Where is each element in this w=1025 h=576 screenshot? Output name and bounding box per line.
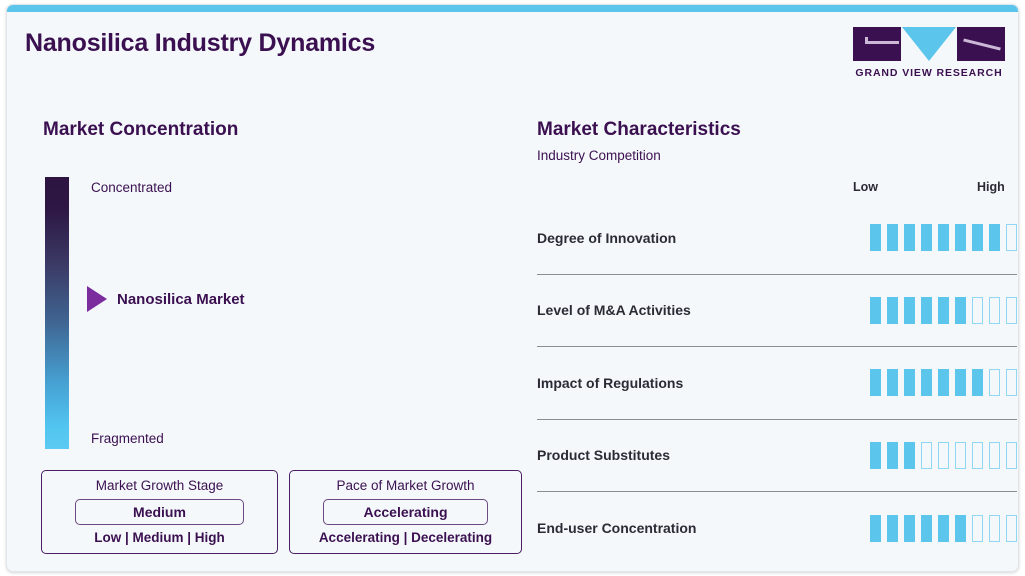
rating-segment [938, 297, 949, 324]
market-characteristics-title: Market Characteristics [537, 119, 741, 141]
market-growth-stage-value-chip: Medium [75, 499, 244, 525]
rating-segment [921, 297, 932, 324]
rating-segment [989, 224, 1000, 251]
characteristic-rating-bars [870, 515, 1017, 542]
rating-segment [887, 297, 898, 324]
rating-segment [1006, 515, 1017, 542]
rating-segment [870, 442, 881, 469]
rating-segment [887, 442, 898, 469]
market-growth-stage-scale: Low | Medium | High [54, 530, 265, 545]
rating-segment [972, 297, 983, 324]
rating-segment [870, 515, 881, 542]
rating-segment [955, 369, 966, 396]
rating-segment [955, 515, 966, 542]
rating-segment [989, 369, 1000, 396]
rating-segment [921, 224, 932, 251]
rating-segment [921, 369, 932, 396]
pace-of-market-growth-box: Pace of Market Growth Accelerating Accel… [289, 470, 522, 554]
pace-of-market-growth-value: Accelerating [324, 504, 488, 520]
market-position-marker: Nanosilica Market [87, 286, 245, 312]
rating-segment [887, 515, 898, 542]
characteristics-rows: Degree of InnovationLevel of M&A Activit… [537, 202, 1017, 565]
marker-arrow-icon [87, 286, 107, 312]
rating-segment [870, 297, 881, 324]
rating-segment [1006, 442, 1017, 469]
rating-segment [904, 224, 915, 251]
rating-segment [904, 442, 915, 469]
scale-header: Low High [537, 180, 1017, 196]
characteristic-row: End-user Concentration [537, 492, 1017, 565]
rating-segment [887, 224, 898, 251]
pace-of-market-growth-title: Pace of Market Growth [302, 478, 509, 493]
rating-segment [870, 369, 881, 396]
characteristic-label: Degree of Innovation [537, 230, 676, 246]
marker-label: Nanosilica Market [117, 291, 245, 308]
characteristic-label: Impact of Regulations [537, 375, 683, 391]
stat-box-group: Market Growth Stage Medium Low | Medium … [41, 470, 522, 554]
characteristic-row: Product Substitutes [537, 420, 1017, 493]
rating-segment [870, 224, 881, 251]
scale-header-high: High [977, 180, 1005, 194]
characteristic-rating-bars [870, 224, 1017, 251]
scale-label-fragmented: Fragmented [91, 431, 164, 446]
rating-segment [1006, 369, 1017, 396]
pace-of-market-growth-scale: Accelerating | Decelerating [302, 530, 509, 545]
scale-header-low: Low [853, 180, 878, 194]
rating-segment [989, 442, 1000, 469]
rating-segment [972, 515, 983, 542]
rating-segment [938, 442, 949, 469]
characteristic-rating-bars [870, 369, 1017, 396]
rating-segment [972, 224, 983, 251]
pace-of-market-growth-value-chip: Accelerating [323, 499, 489, 525]
market-growth-stage-value: Medium [76, 504, 243, 520]
rating-segment [955, 442, 966, 469]
rating-segment [989, 515, 1000, 542]
rating-segment [989, 297, 1000, 324]
rating-segment [972, 442, 983, 469]
characteristic-rating-bars [870, 297, 1017, 324]
market-growth-stage-title: Market Growth Stage [54, 478, 265, 493]
characteristic-label: Level of M&A Activities [537, 302, 691, 318]
rating-segment [921, 515, 932, 542]
rating-segment [887, 369, 898, 396]
rating-segment [955, 224, 966, 251]
rating-segment [938, 515, 949, 542]
rating-segment [1006, 224, 1017, 251]
characteristic-label: Product Substitutes [537, 447, 670, 463]
market-growth-stage-box: Market Growth Stage Medium Low | Medium … [41, 470, 278, 554]
market-concentration-panel: Market Concentration Concentrated Fragme… [7, 5, 519, 571]
rating-segment [955, 297, 966, 324]
market-concentration-title: Market Concentration [43, 119, 238, 141]
rating-segment [1006, 297, 1017, 324]
scale-label-concentrated: Concentrated [91, 180, 172, 195]
characteristic-label: End-user Concentration [537, 520, 696, 536]
market-characteristics-panel: Market Characteristics Industry Competit… [519, 5, 1019, 571]
concentration-gradient-bar [45, 177, 69, 449]
rating-segment [904, 515, 915, 542]
rating-segment [921, 442, 932, 469]
concentration-scale: Concentrated Fragmented Nanosilica Marke… [45, 177, 295, 449]
rating-segment [938, 224, 949, 251]
characteristic-row: Impact of Regulations [537, 347, 1017, 420]
infographic-card: Nanosilica Industry Dynamics GRAND VIEW … [6, 4, 1019, 572]
rating-segment [904, 297, 915, 324]
characteristic-rating-bars [870, 442, 1017, 469]
rating-segment [904, 369, 915, 396]
characteristic-row: Level of M&A Activities [537, 275, 1017, 348]
rating-segment [938, 369, 949, 396]
market-characteristics-subtitle: Industry Competition [537, 148, 661, 163]
rating-segment [972, 369, 983, 396]
characteristic-row: Degree of Innovation [537, 202, 1017, 275]
